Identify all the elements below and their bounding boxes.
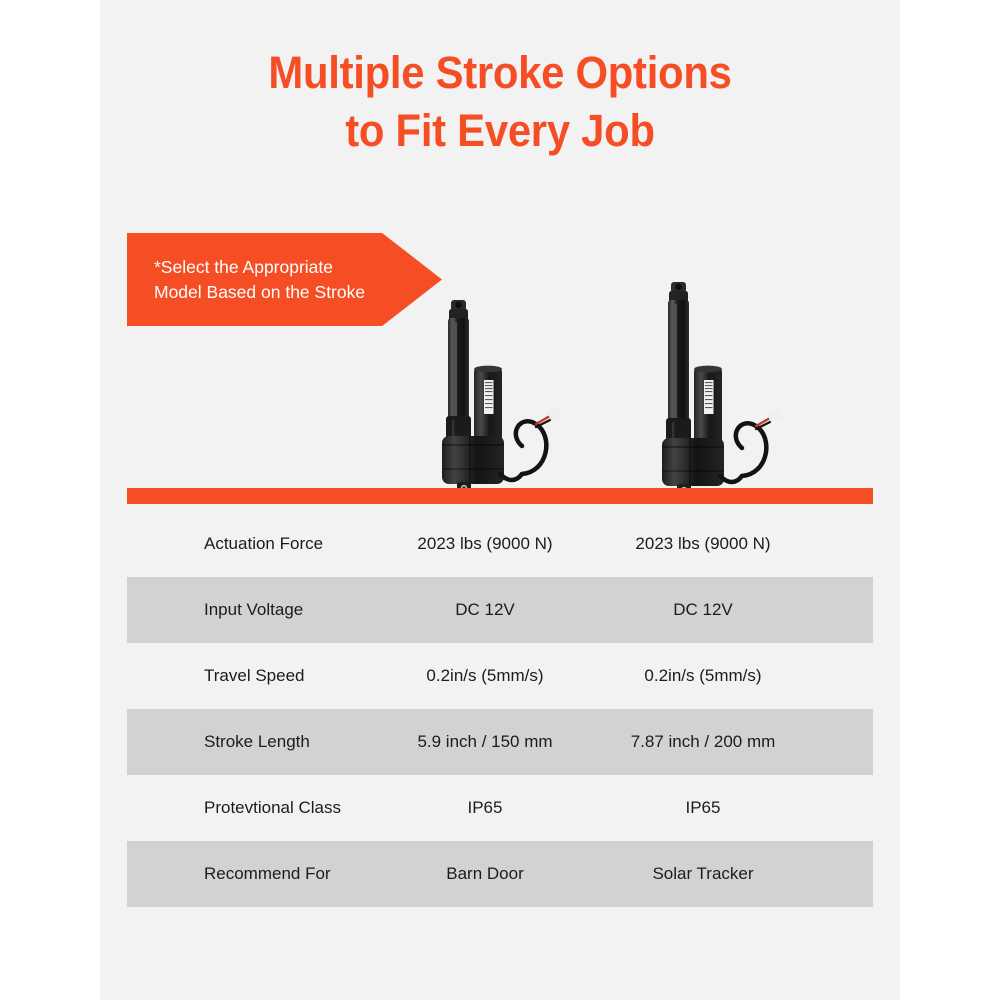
table-row: Protevtional Class IP65 IP65 bbox=[127, 775, 873, 841]
spec-value-product-1: Barn Door bbox=[365, 864, 605, 884]
spec-label: Travel Speed bbox=[204, 666, 304, 686]
spec-value-product-2: IP65 bbox=[583, 798, 823, 818]
table-row: Stroke Length 5.9 inch / 150 mm 7.87 inc… bbox=[127, 709, 873, 775]
spec-value-product-1: DC 12V bbox=[365, 600, 605, 620]
callout-ribbon: *Select the Appropriate Model Based on t… bbox=[127, 233, 442, 326]
spec-value-product-2: 2023 lbs (9000 N) bbox=[583, 534, 823, 554]
table-row: Actuation Force 2023 lbs (9000 N) 2023 l… bbox=[127, 511, 873, 577]
product-image-linear-actuator-200mm bbox=[650, 278, 790, 496]
linear-actuator-200mm-illustration bbox=[650, 278, 790, 496]
table-row: Travel Speed 0.2in/s (5mm/s) 0.2in/s (5m… bbox=[127, 643, 873, 709]
product-image-linear-actuator-150mm bbox=[430, 296, 570, 496]
spec-label: Stroke Length bbox=[204, 732, 310, 752]
spec-label: Input Voltage bbox=[204, 600, 303, 620]
callout-ribbon-text: *Select the Appropriate Model Based on t… bbox=[154, 255, 384, 305]
spec-comparison-table: Actuation Force 2023 lbs (9000 N) 2023 l… bbox=[127, 511, 873, 907]
spec-label: Protevtional Class bbox=[204, 798, 341, 818]
spec-value-product-2: 0.2in/s (5mm/s) bbox=[583, 666, 823, 686]
spec-value-product-1: IP65 bbox=[365, 798, 605, 818]
linear-actuator-150mm-illustration bbox=[430, 296, 570, 496]
spec-value-product-2: DC 12V bbox=[583, 600, 823, 620]
spec-value-product-1: 2023 lbs (9000 N) bbox=[365, 534, 605, 554]
callout-ribbon-line-2: Model Based on the Stroke bbox=[154, 280, 384, 305]
page-title-line-2: to Fit Every Job bbox=[128, 102, 872, 160]
spec-value-product-2: Solar Tracker bbox=[583, 864, 823, 884]
spec-value-product-1: 5.9 inch / 150 mm bbox=[365, 732, 605, 752]
spec-label: Actuation Force bbox=[204, 534, 323, 554]
section-divider-bar bbox=[127, 488, 873, 504]
page-title-line-1: Multiple Stroke Options bbox=[128, 44, 872, 102]
table-row: Recommend For Barn Door Solar Tracker bbox=[127, 841, 873, 907]
callout-ribbon-line-1: *Select the Appropriate bbox=[154, 255, 384, 280]
spec-value-product-1: 0.2in/s (5mm/s) bbox=[365, 666, 605, 686]
infographic-page: Multiple Stroke Options to Fit Every Job… bbox=[0, 0, 1000, 1000]
spec-value-product-2: 7.87 inch / 200 mm bbox=[583, 732, 823, 752]
page-title: Multiple Stroke Options to Fit Every Job bbox=[128, 44, 872, 160]
spec-label: Recommend For bbox=[204, 864, 331, 884]
table-row: Input Voltage DC 12V DC 12V bbox=[127, 577, 873, 643]
